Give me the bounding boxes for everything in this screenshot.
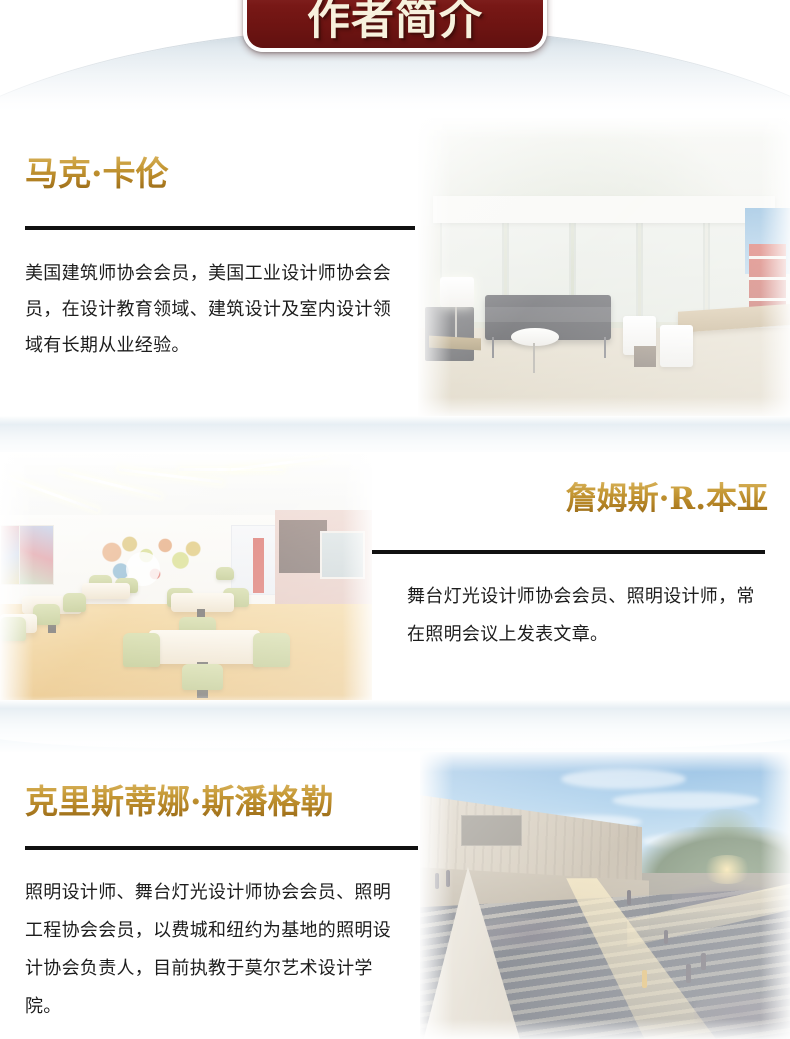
- author-rule-3: [25, 846, 418, 850]
- author-text-panel-3: 克里斯蒂娜·斯潘格勒 照明设计师、舞台灯光设计师协会会员、照明工程协会会员，以费…: [0, 752, 420, 1039]
- header-bottom-fade: [0, 94, 790, 120]
- cafeteria-illustration: [0, 452, 372, 714]
- author-bio-1: 美国建筑师协会会员，美国工业设计师协会会员，在设计教育领域、建筑设计及室内设计领…: [25, 256, 400, 364]
- author-section-3: 克里斯蒂娜·斯潘格勒 照明设计师、舞台灯光设计师协会会员、照明工程协会会员，以费…: [0, 752, 790, 1039]
- author-text-panel-2: 詹姆斯·R.本亚 舞台灯光设计师协会会员、照明设计师，常在照明会议上发表文章。: [372, 452, 790, 714]
- author-photo-3: [420, 752, 790, 1039]
- author-bio-2: 舞台灯光设计师协会会员、照明设计师，常在照明会议上发表文章。: [407, 578, 755, 654]
- author-bio-3: 照明设计师、舞台灯光设计师协会会员、照明工程协会会员，以费城和纽约为基地的照明设…: [25, 874, 397, 1026]
- banner-title-text: 作者简介: [247, 0, 543, 45]
- author-photo-1: [418, 118, 790, 418]
- author-photo-2: [0, 452, 372, 714]
- author-name-2: 詹姆斯·R.本亚: [566, 480, 768, 518]
- author-section-1: 马克·卡伦 美国建筑师协会会员，美国工业设计师协会会员，在设计教育领域、建筑设计…: [0, 118, 790, 418]
- author-rule-1: [25, 226, 415, 230]
- page-header: 作者简介: [0, 0, 790, 120]
- lounge-interior-illustration: [418, 118, 790, 418]
- amphitheater-illustration: [420, 752, 790, 1039]
- author-text-panel-1: 马克·卡伦 美国建筑师协会会员，美国工业设计师协会会员，在设计教育领域、建筑设计…: [0, 118, 418, 418]
- author-rule-2: [372, 550, 765, 554]
- author-name-3: 克里斯蒂娜·斯潘格勒: [25, 782, 334, 822]
- page-root: 作者简介 马克·卡伦 美国建筑师协会会员，美国工业设计师协会会员，在设计教育领域…: [0, 0, 790, 1039]
- section-title-banner: 作者简介: [243, 0, 547, 52]
- section-divider-2: [0, 700, 790, 754]
- author-name-1: 马克·卡伦: [25, 154, 169, 194]
- author-section-2: 詹姆斯·R.本亚 舞台灯光设计师协会会员、照明设计师，常在照明会议上发表文章。: [0, 452, 790, 714]
